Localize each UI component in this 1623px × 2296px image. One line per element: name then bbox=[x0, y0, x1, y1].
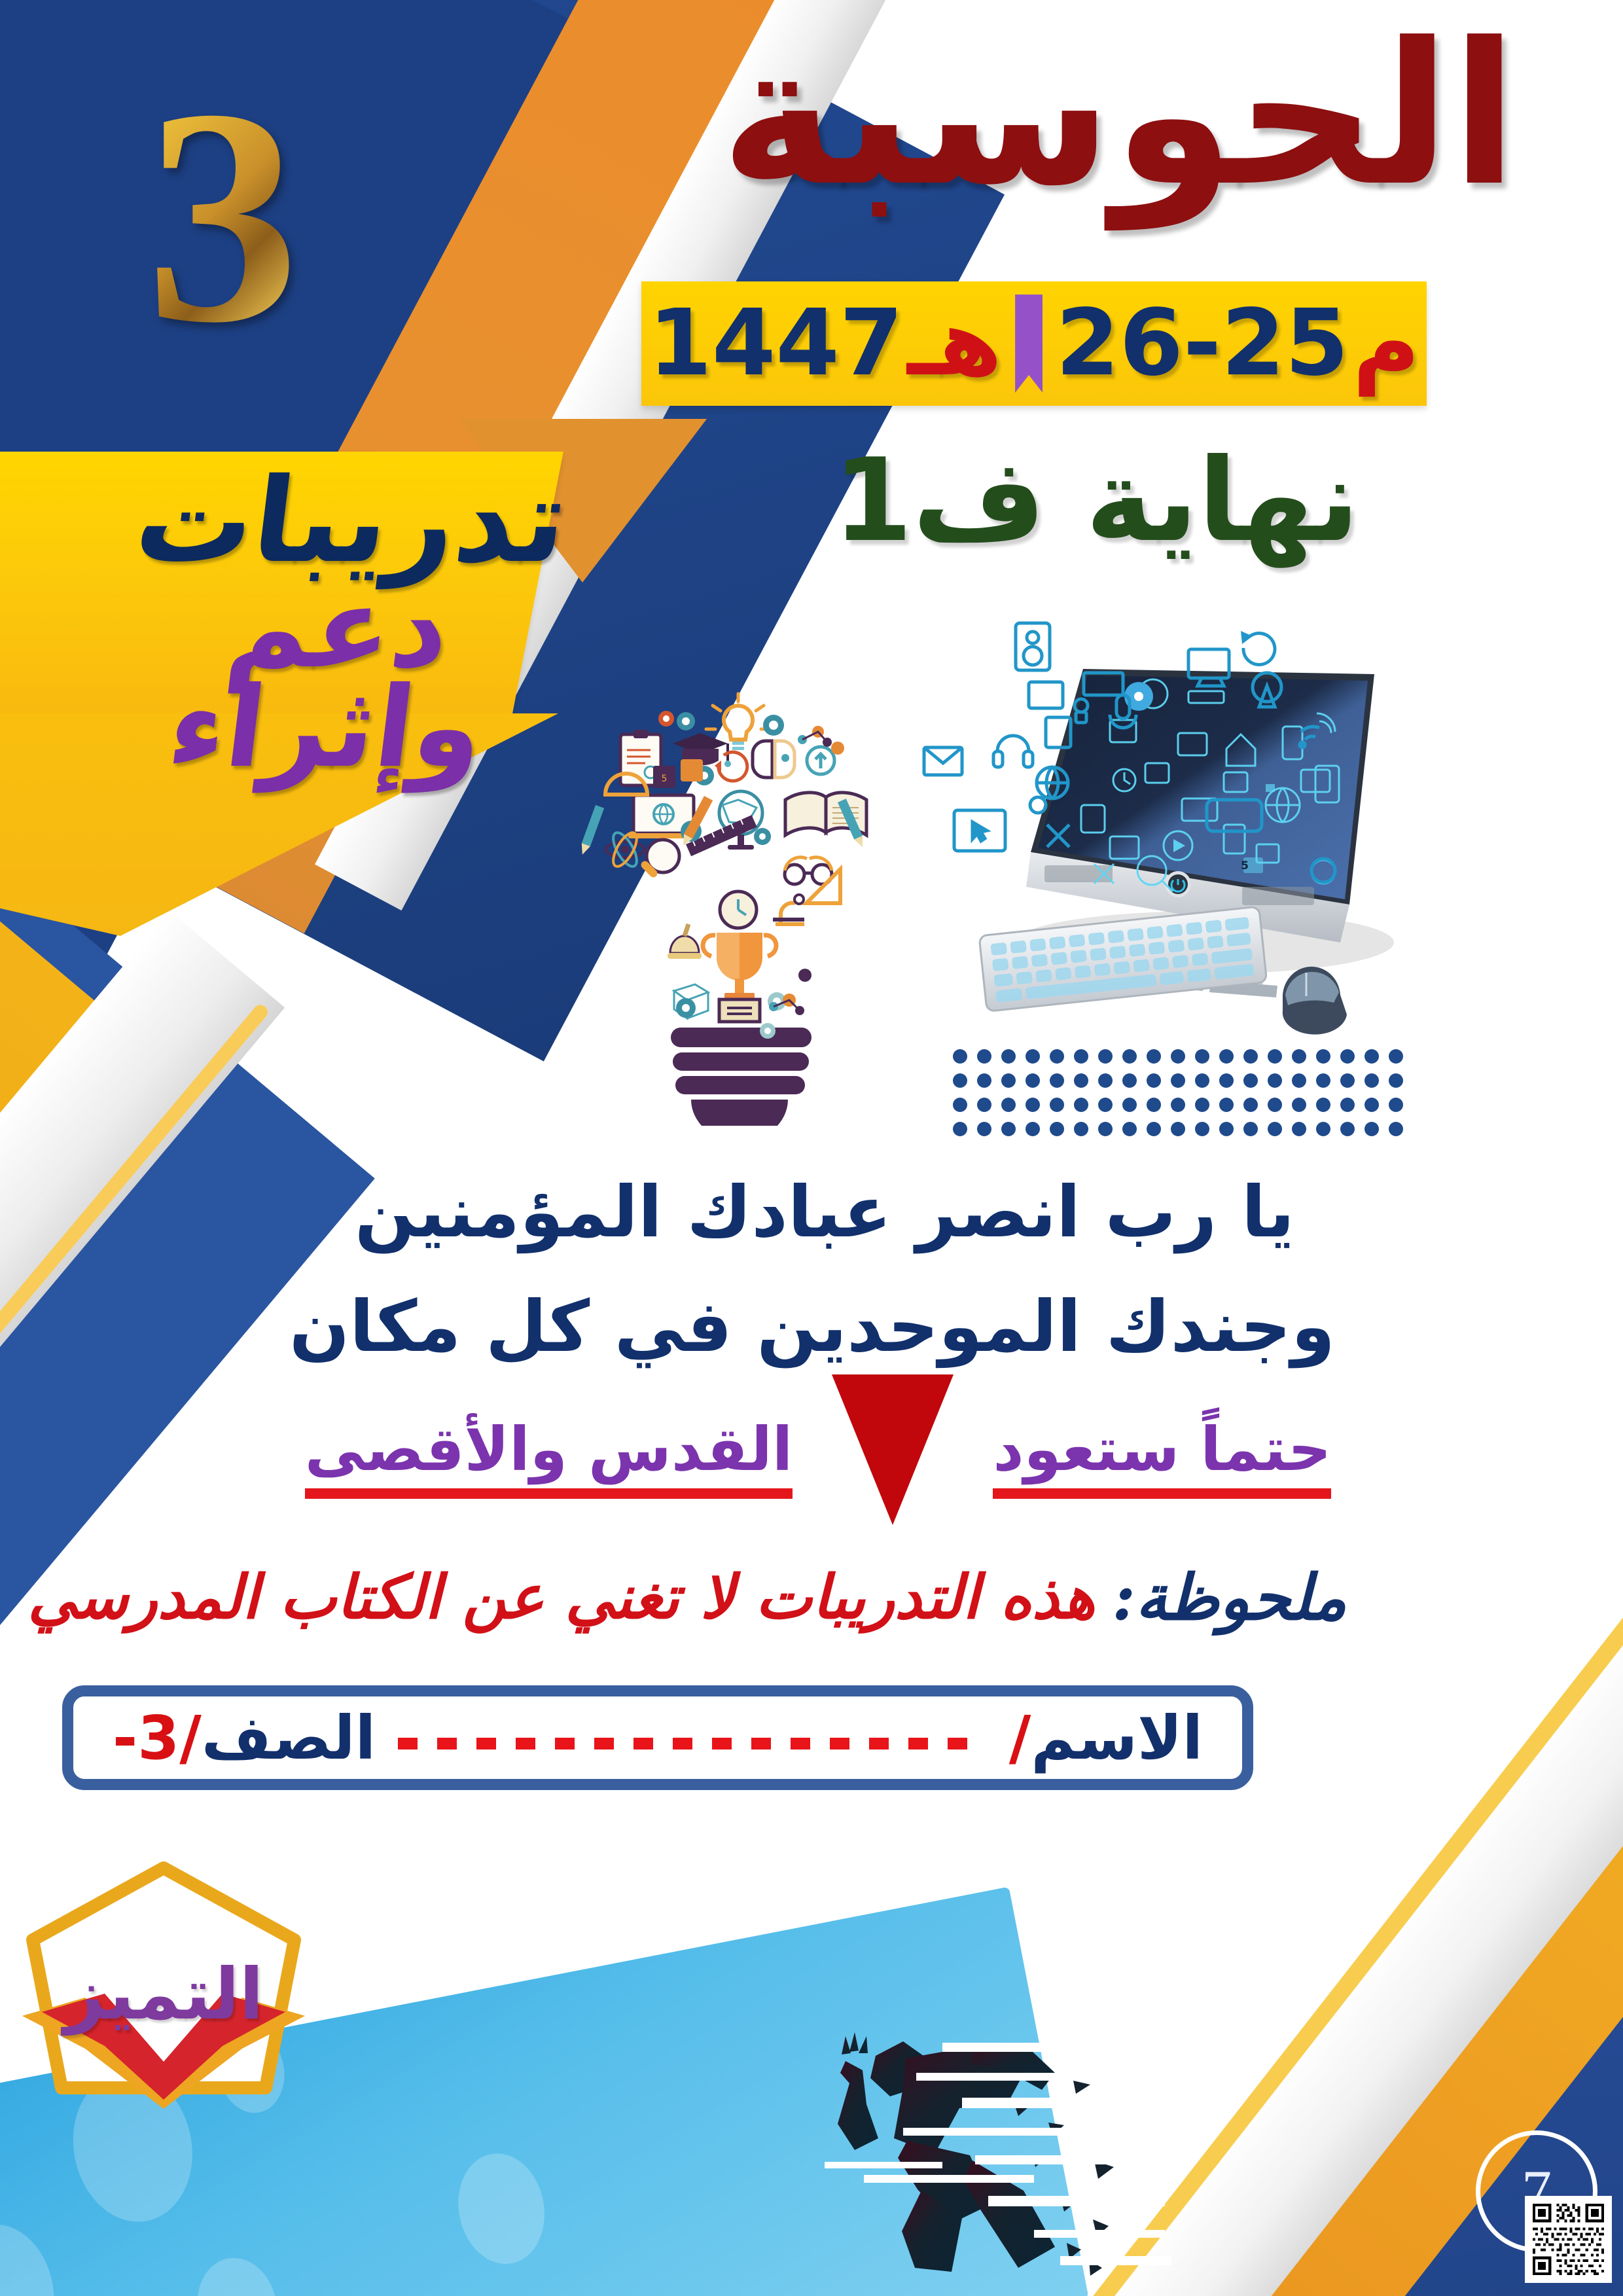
down-triangle-icon bbox=[832, 1374, 954, 1525]
dot-grid-decoration bbox=[952, 1047, 1417, 1145]
svg-text:5: 5 bbox=[662, 774, 668, 784]
student-info-box[interactable]: الاسم/ الصف/3- bbox=[62, 1685, 1253, 1790]
palestine-slogan-row: حتماً ستعود القدس والأقصى bbox=[393, 1401, 1243, 1512]
hijri-suffix: هـ bbox=[907, 298, 1002, 389]
desktop-computer-icon: 5 bbox=[916, 609, 1440, 1054]
name-label-text: الاسم bbox=[1031, 1703, 1203, 1773]
dua-line-2: وجندك الموحدين في كل مكان bbox=[314, 1286, 1335, 1368]
poster-page: 3 تدريبات دعم وإثراء الحوسبة م 26-25 هـ … bbox=[0, 0, 1623, 2296]
grade-label-text: الصف bbox=[202, 1703, 376, 1773]
palestine-left-text: حتماً ستعود bbox=[993, 1414, 1331, 1499]
gregorian-years: 26-25 bbox=[1056, 298, 1349, 389]
name-input-line[interactable] bbox=[398, 1738, 987, 1749]
note-row: ملحوظة: هذه التدريبات لا تغني عن الكتاب … bbox=[98, 1538, 1276, 1656]
grade-number: 3 bbox=[92, 20, 353, 412]
note-body: هذه التدريبات لا تغني عن الكتاب المدرسي bbox=[27, 1562, 1095, 1632]
bookmark-ribbon-icon bbox=[1015, 295, 1043, 393]
badge-label: التميز bbox=[26, 1954, 301, 2036]
page-subtitle: نهاية ف1 bbox=[720, 425, 1472, 576]
lightbulb-education-icon: 5 bbox=[576, 674, 903, 1126]
hijri-year: 1447 bbox=[649, 298, 904, 389]
dua-line-1: يا رب انصر عبادك المؤمنين bbox=[314, 1172, 1335, 1253]
runner-silhouette-icon bbox=[785, 2000, 1243, 2294]
name-slash: / bbox=[1009, 1703, 1031, 1773]
svg-text:5: 5 bbox=[1241, 859, 1249, 872]
banner-line-ithraa: وإثراء bbox=[163, 672, 490, 785]
grade-label: الصف/3- bbox=[113, 1703, 376, 1773]
palestine-right-text: القدس والأقصى bbox=[305, 1414, 793, 1499]
gregorian-suffix: م bbox=[1353, 298, 1420, 389]
name-label: الاسم/ bbox=[1009, 1703, 1203, 1773]
page-title: الحوسبة bbox=[654, 7, 1584, 223]
qr-code-icon[interactable] bbox=[1525, 2196, 1612, 2283]
note-label: ملحوظة: bbox=[1113, 1560, 1347, 1634]
grade-slash: / bbox=[179, 1703, 202, 1773]
grade-value: 3- bbox=[113, 1703, 179, 1773]
date-bar: م 26-25 هـ 1447 bbox=[641, 281, 1427, 406]
